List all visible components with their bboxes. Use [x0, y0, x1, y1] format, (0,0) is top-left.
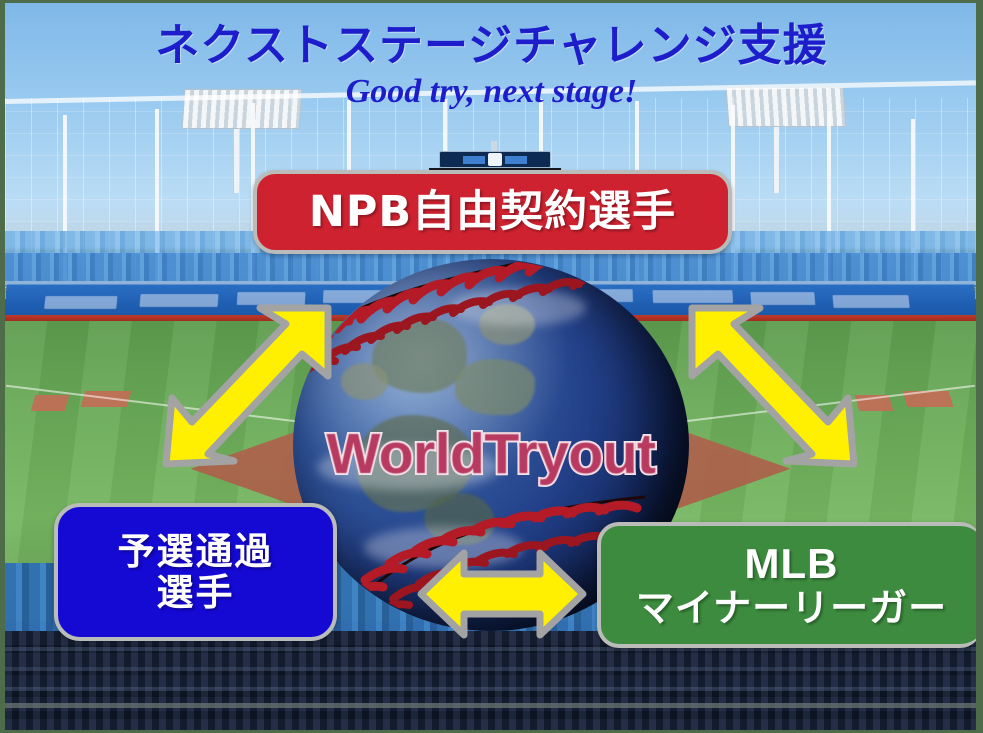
arrow-top-left: [160, 302, 335, 467]
chip-mlb-line1: MLB: [745, 540, 839, 587]
seat-row: [5, 667, 976, 671]
poster-root: WorldTryout ネクストステージチャレンジ支援 Good try, ne…: [0, 0, 983, 733]
seating-rail: [5, 703, 976, 708]
chip-qualifier-line1: 予選通過: [118, 530, 274, 573]
arrow-bottom: [416, 548, 588, 640]
chip-qualifier-line2: 選手: [157, 571, 235, 614]
chip-mlb-line2: マイナーリーガー: [636, 586, 947, 630]
world-tryout-text: WorldTryout: [326, 422, 655, 486]
arrow-top-right: [685, 302, 860, 467]
chip-npb-label: NPB自由契約選手: [309, 188, 676, 236]
seat-row: [5, 687, 976, 691]
chip-mlb-minor-leaguer[interactable]: MLB マイナーリーガー: [597, 522, 982, 648]
chip-mlb-label: MLB マイナーリーガー: [636, 540, 947, 630]
scoreboard-segment: [463, 156, 485, 164]
chip-qualifier-label: 予選通過 選手: [118, 531, 274, 614]
scoreboard-logo: [488, 153, 502, 166]
bullpen-left: [31, 395, 70, 411]
scoreboard: [439, 151, 551, 168]
world-tryout-wordmark: WorldTryout: [293, 421, 689, 487]
headline-japanese: ネクストステージチャレンジ支援: [0, 22, 983, 70]
headline-english: Good try, next stage!: [0, 72, 983, 112]
headline-block: ネクストステージチャレンジ支援 Good try, next stage!: [0, 22, 983, 112]
chip-qualifier[interactable]: 予選通過 選手: [54, 503, 337, 641]
chip-npb-free-agent[interactable]: NPB自由契約選手: [253, 170, 732, 254]
ad-banner: [44, 296, 117, 309]
scoreboard-segment: [505, 156, 527, 164]
